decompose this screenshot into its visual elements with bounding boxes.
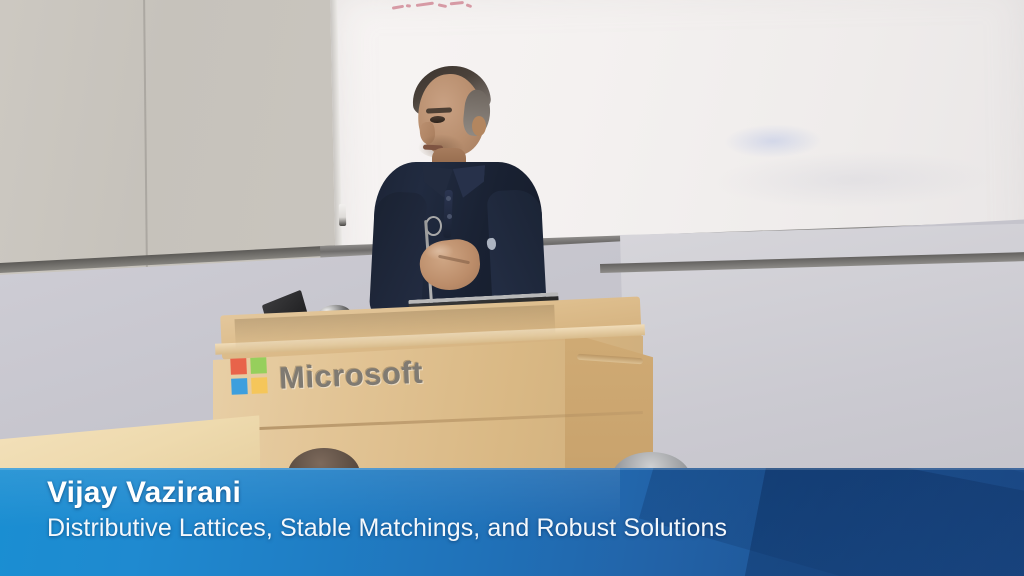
shirt-button (447, 214, 452, 219)
lectern-podium: Microsoft (205, 300, 675, 490)
presenter-ear (472, 116, 486, 136)
video-frame: Microsoft Vijay Vazirani Distributive La… (0, 0, 1024, 576)
wall-mounted-clip (339, 204, 346, 226)
logo-square-yellow (251, 377, 268, 394)
microsoft-wordmark: Microsoft (278, 355, 423, 397)
microsoft-logo-squares (230, 357, 267, 394)
logo-square-red (230, 358, 247, 375)
presenter-figure (368, 72, 548, 332)
banner-top-highlight (0, 468, 1024, 470)
logo-square-green (250, 357, 267, 374)
microsoft-logo: Microsoft (230, 357, 267, 394)
banner-diagonal-shape-2 (740, 468, 1024, 576)
logo-square-blue (231, 378, 248, 395)
shirt-button (446, 196, 451, 201)
speaker-name: Vijay Vazirani (47, 476, 241, 510)
talk-title: Distributive Lattices, Stable Matchings,… (47, 514, 727, 543)
